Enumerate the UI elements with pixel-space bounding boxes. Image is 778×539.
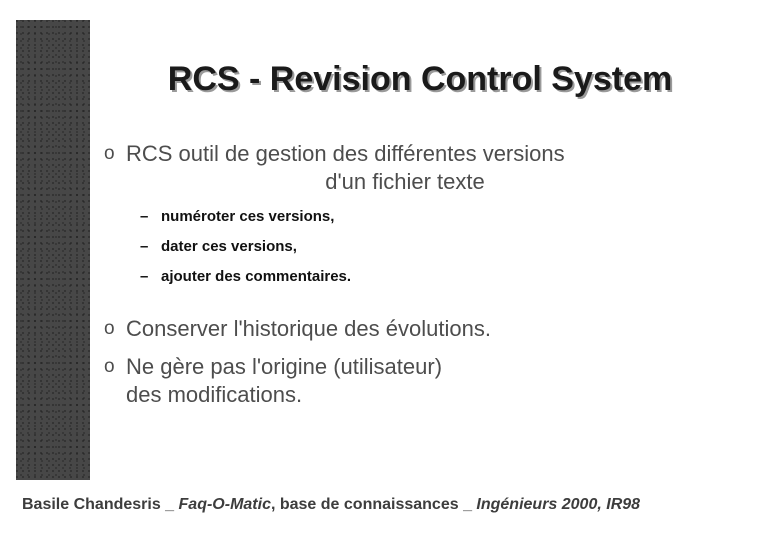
sub-bullet-item-3-text: ajouter des commentaires. (161, 266, 684, 287)
bullet-item-3-line-1: Ne gère pas l'origine (utilisateur) (126, 353, 684, 381)
bullet-item-3-line-2: des modifications. (126, 381, 684, 409)
bullet-item-2: o Conserver l'historique des évolutions. (104, 315, 684, 343)
bullet-item-3: o Ne gère pas l'origine (utilisateur) de… (104, 353, 684, 409)
circle-bullet-icon: o (104, 353, 126, 381)
bullet-item-1-line-2: d'un fichier texte (126, 168, 684, 196)
bullet-item-1: o RCS outil de gestion des différentes v… (104, 140, 684, 196)
dash-bullet-icon: – (140, 236, 161, 257)
sub-bullet-item-1: – numéroter ces versions, (140, 206, 684, 227)
bullet-item-2-text: Conserver l'historique des évolutions. (126, 315, 684, 343)
slide-footer: Basile Chandesris _ Faq-O-Matic, base de… (22, 494, 640, 516)
sub-bullet-item-3: – ajouter des commentaires. (140, 266, 684, 287)
slide-title: RCS - Revision Control System (100, 58, 740, 100)
decorative-side-bar (16, 20, 90, 480)
footer-source-name: Faq-O-Matic (179, 496, 271, 513)
footer-author: Basile Chandesris _ (22, 496, 179, 513)
circle-bullet-icon: o (104, 315, 126, 343)
presentation-slide: RCS - Revision Control System o RCS outi… (0, 0, 778, 539)
footer-organization: Ingénieurs 2000, IR98 (476, 496, 640, 513)
slide-content-body: o RCS outil de gestion des différentes v… (104, 140, 684, 409)
bullet-item-1-line-1: RCS outil de gestion des différentes ver… (126, 140, 684, 168)
circle-bullet-icon: o (104, 140, 126, 168)
sub-bullet-item-2: – dater ces versions, (140, 236, 684, 257)
sub-bullet-item-1-text: numéroter ces versions, (161, 206, 684, 227)
sub-bullet-item-2-text: dater ces versions, (161, 236, 684, 257)
bullet-item-1-text: RCS outil de gestion des différentes ver… (126, 140, 684, 196)
dash-bullet-icon: – (140, 206, 161, 227)
footer-description: , base de connaissances _ (271, 496, 476, 513)
dash-bullet-icon: – (140, 266, 161, 287)
sub-bullet-list: – numéroter ces versions, – dater ces ve… (140, 206, 684, 287)
bullet-item-3-text: Ne gère pas l'origine (utilisateur) des … (126, 353, 684, 409)
